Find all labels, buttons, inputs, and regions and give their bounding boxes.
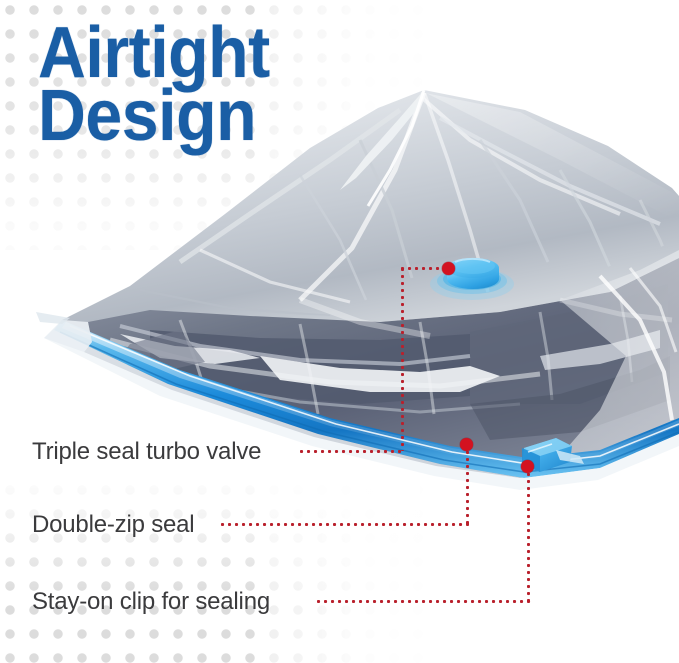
annotation-label-double-zip-seal: Double-zip seal [32,511,194,539]
annotation-label-stay-on-clip: Stay-on clip for sealing [32,588,270,616]
leader-line-clip-horizontal [317,600,531,603]
leader-line-clip-vertical [527,466,530,602]
leader-line-zip-vertical [466,444,469,525]
leader-line-valve-horizontal-lower [300,450,404,453]
leader-line-zip-horizontal [221,523,469,526]
annotation-label-triple-seal-turbo-valve: Triple seal turbo valve [32,438,261,466]
product-feature-graphic: Airtight Design Triple seal turbo valve … [0,0,679,663]
marker-double-zip-seal [460,438,473,451]
leader-line-valve-vertical [401,268,404,451]
marker-stay-on-clip [521,460,534,473]
marker-triple-seal-turbo-valve [442,262,455,275]
annotation-layer: Triple seal turbo valve Double-zip seal … [0,0,679,663]
